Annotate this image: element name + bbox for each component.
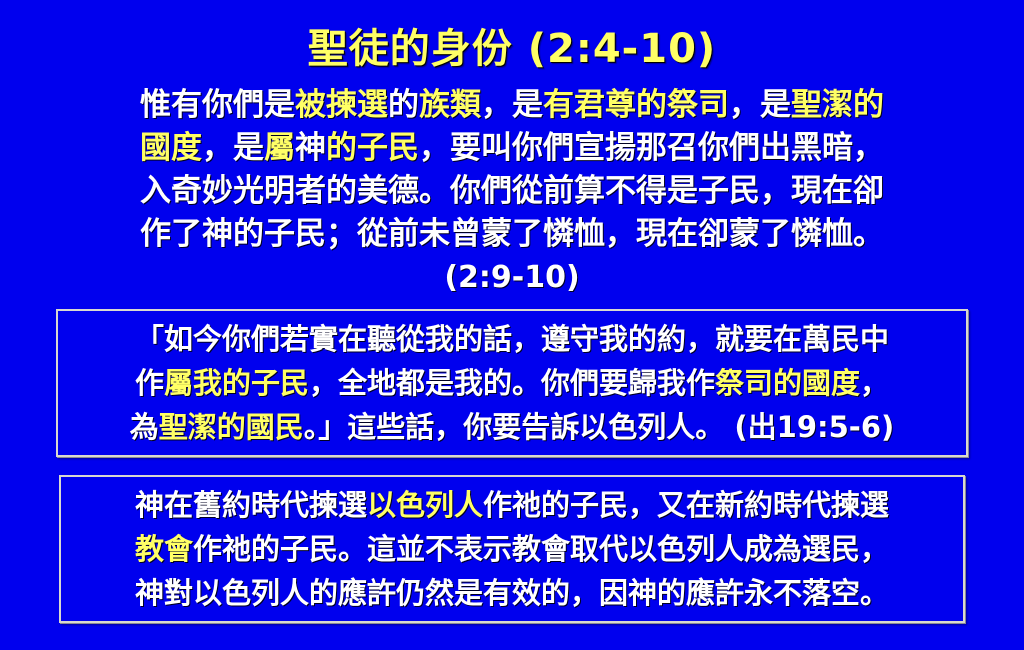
body-text: ，: [860, 366, 889, 400]
highlighted-text: 以色列人: [367, 488, 483, 522]
text-line: 神在舊約時代揀選以色列人作祂的子民，又在新約時代揀選: [71, 483, 953, 527]
body-text: 惟有你們是: [140, 87, 295, 123]
body-text: 的: [388, 87, 419, 123]
body-text: 作祂的子民，又在新約時代揀選: [483, 488, 889, 522]
highlighted-text: 聖潔的國民: [159, 410, 304, 444]
body-text: 神在舊約時代揀選: [135, 488, 367, 522]
body-text: 「如今你們若實在聽從我的話，遵守我的約，就要在萬民中: [135, 322, 889, 356]
highlighted-text: 祭司的國度: [715, 366, 860, 400]
body-text: 神對以色列人的應許仍然是有效的，因神的應許永不落空。: [135, 576, 889, 610]
body-text: 入奇妙光明者的美德。你們從前算不得是子民，現在卻: [140, 173, 884, 209]
text-line: 惟有你們是被揀選的族類，是有君尊的祭司，是聖潔的: [62, 84, 962, 127]
body-text: ，是: [481, 87, 543, 123]
text-line: 作屬我的子民，全地都是我的。你們要歸我作祭司的國度，: [68, 361, 956, 405]
body-text: ，是: [729, 87, 791, 123]
scripture-passage: 惟有你們是被揀選的族類，是有君尊的祭司，是聖潔的國度，是屬神的子民，要叫你們宣揚…: [62, 84, 962, 256]
quote-box-exodus: 「如今你們若實在聽從我的話，遵守我的約，就要在萬民中作屬我的子民，全地都是我的。…: [56, 309, 968, 457]
commentary-box: 神在舊約時代揀選以色列人作祂的子民，又在新約時代揀選教會作祂的子民。這並不表示教…: [59, 475, 965, 623]
highlighted-text: 聖潔的: [791, 87, 884, 123]
commentary-box-text: 神在舊約時代揀選以色列人作祂的子民，又在新約時代揀選教會作祂的子民。這並不表示教…: [71, 483, 953, 615]
text-line: 為聖潔的國民。」這些話，你要告訴以色列人。 (出19:5-6): [68, 405, 956, 449]
body-text: 作了神的子民；從前未曾蒙了憐恤，現在卻蒙了憐恤。: [140, 216, 884, 252]
text-line: 「如今你們若實在聽從我的話，遵守我的約，就要在萬民中: [68, 317, 956, 361]
text-line: 國度，是屬神的子民，要叫你們宣揚那召你們出黑暗，: [62, 127, 962, 170]
highlighted-text: 族類: [419, 87, 481, 123]
body-text: 神: [295, 130, 326, 166]
text-line: 神對以色列人的應許仍然是有效的，因神的應許永不落空。: [71, 571, 953, 615]
highlighted-text: 國度: [140, 130, 202, 166]
body-text: (出19:5-6): [724, 410, 894, 444]
body-text: 作祂的子民。這並不表示教會取代以色列人成為選民，: [193, 532, 889, 566]
highlighted-text: 屬: [264, 130, 295, 166]
quote-box-exodus-text: 「如今你們若實在聽從我的話，遵守我的約，就要在萬民中作屬我的子民，全地都是我的。…: [68, 317, 956, 449]
body-text: 為: [130, 410, 159, 444]
body-text: ，是: [202, 130, 264, 166]
text-line: 作了神的子民；從前未曾蒙了憐恤，現在卻蒙了憐恤。: [62, 213, 962, 256]
body-text: 。」這些話，你要告訴以色列人。: [304, 410, 725, 444]
body-text: 作: [135, 366, 164, 400]
highlighted-text: 被揀選: [295, 87, 388, 123]
highlighted-text: 的子民: [326, 130, 419, 166]
slide-title: 聖徒的身份 (2:4-10): [0, 0, 1024, 70]
text-line: 教會作祂的子民。這並不表示教會取代以色列人成為選民，: [71, 527, 953, 571]
highlighted-text: 屬我的子民: [164, 366, 309, 400]
text-line: 入奇妙光明者的美德。你們從前算不得是子民，現在卻: [62, 170, 962, 213]
highlighted-text: 教會: [135, 532, 193, 566]
body-text: ，要叫你們宣揚那召你們出黑暗，: [419, 130, 884, 166]
scripture-reference: (2:9-10): [0, 260, 1024, 295]
body-text: ，全地都是我的。你們要歸我作: [309, 366, 715, 400]
slide-canvas: 聖徒的身份 (2:4-10) 惟有你們是被揀選的族類，是有君尊的祭司，是聖潔的國…: [0, 0, 1024, 650]
highlighted-text: 有君尊的祭司: [543, 87, 729, 123]
